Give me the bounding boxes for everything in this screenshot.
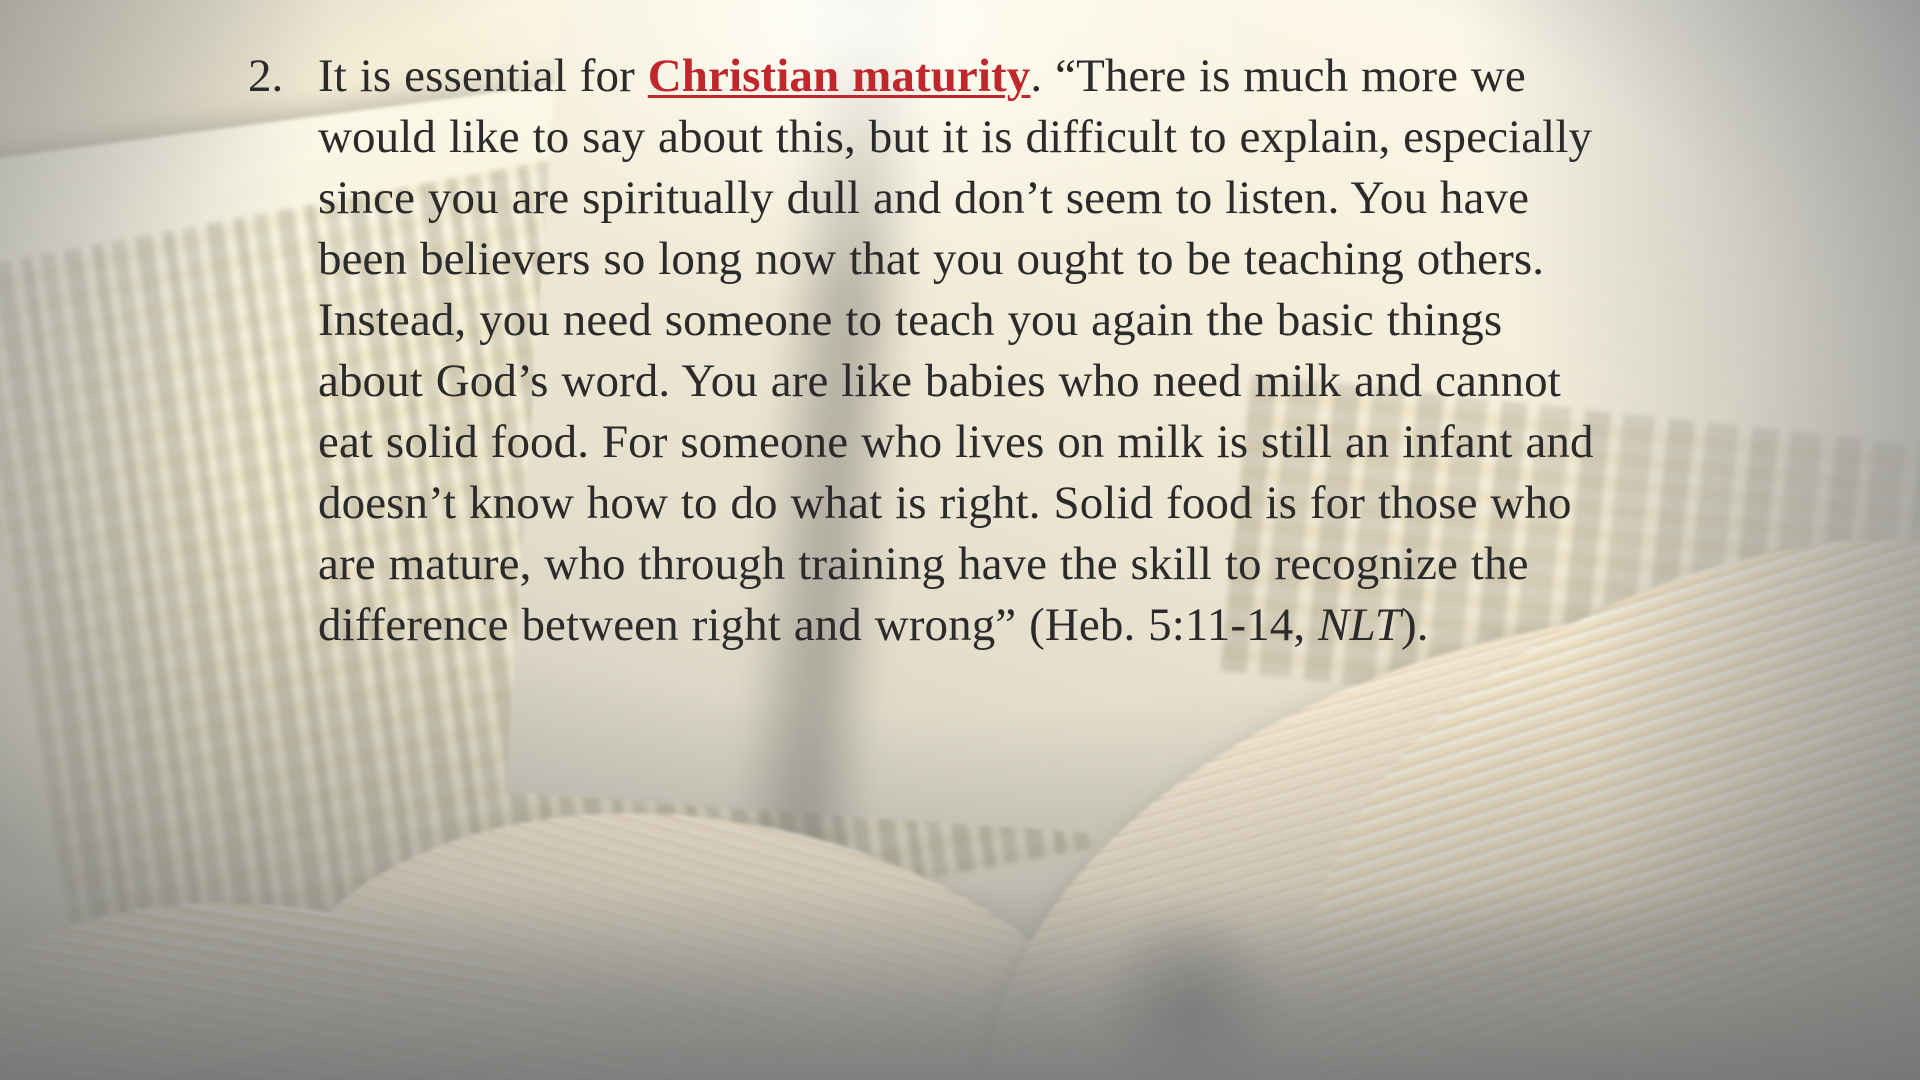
slide-canvas: 2. It is essential for Christian maturit… bbox=[0, 0, 1920, 1080]
bullet-text-before-keyword: It is essential for bbox=[318, 50, 648, 102]
bullet-number: 2. bbox=[248, 46, 318, 107]
bullet-text: It is essential for Christian maturity. … bbox=[318, 46, 1608, 656]
bullet-text-end: ). bbox=[1401, 599, 1429, 651]
scripture-version-abbreviation: NLT bbox=[1318, 599, 1401, 651]
keyword-christian-maturity: Christian maturity bbox=[648, 50, 1031, 102]
bullet-text-after-keyword: . “There is much more we would like to s… bbox=[318, 50, 1594, 651]
slide-content: 2. It is essential for Christian maturit… bbox=[248, 46, 1608, 656]
bullet-item: 2. It is essential for Christian maturit… bbox=[248, 46, 1608, 656]
